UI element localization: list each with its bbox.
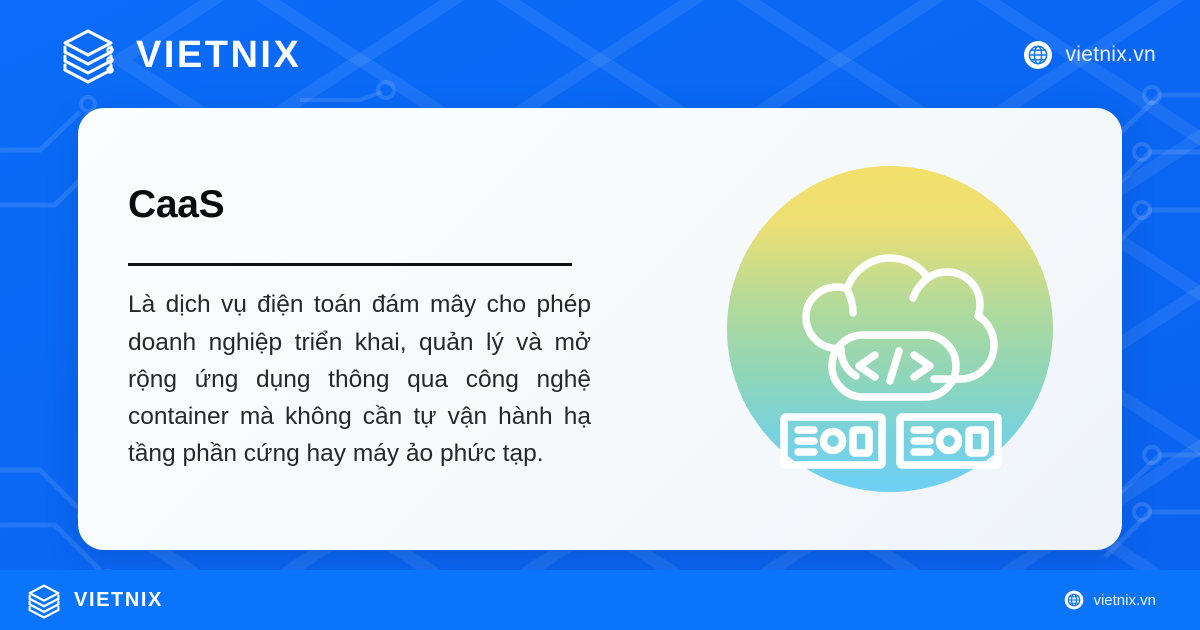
page-title: CaaS [128,185,598,224]
footer-brand-name: VIETNIX [74,589,163,612]
site-url: vietnix.vn [1065,43,1156,67]
globe-icon [1064,590,1084,610]
header-site-link[interactable]: vietnix.vn [1023,40,1156,70]
content-card: CaaS Là dịch vụ điện toán đám mây cho ph… [78,108,1122,550]
footer-site-url: vietnix.vn [1093,592,1156,609]
footer-site-link[interactable]: vietnix.vn [1064,590,1156,610]
card-text-column: CaaS Là dịch vụ điện toán đám mây cho ph… [78,185,598,472]
page-footer: VIETNIX vietnix.vn [0,570,1200,630]
stacked-layers-icon [24,580,64,620]
title-divider [128,263,572,266]
globe-icon [1023,40,1053,70]
header-brand[interactable]: VIETNIX [56,23,301,87]
stacked-layers-icon [56,23,120,87]
footer-brand[interactable]: VIETNIX [24,580,163,620]
cloud-code-servers-icon [720,159,1060,499]
card-description: Là dịch vụ điện toán đám mây cho phép do… [128,286,591,472]
page-header: VIETNIX vietnix.vn [0,0,1200,110]
brand-name: VIETNIX [136,34,301,77]
